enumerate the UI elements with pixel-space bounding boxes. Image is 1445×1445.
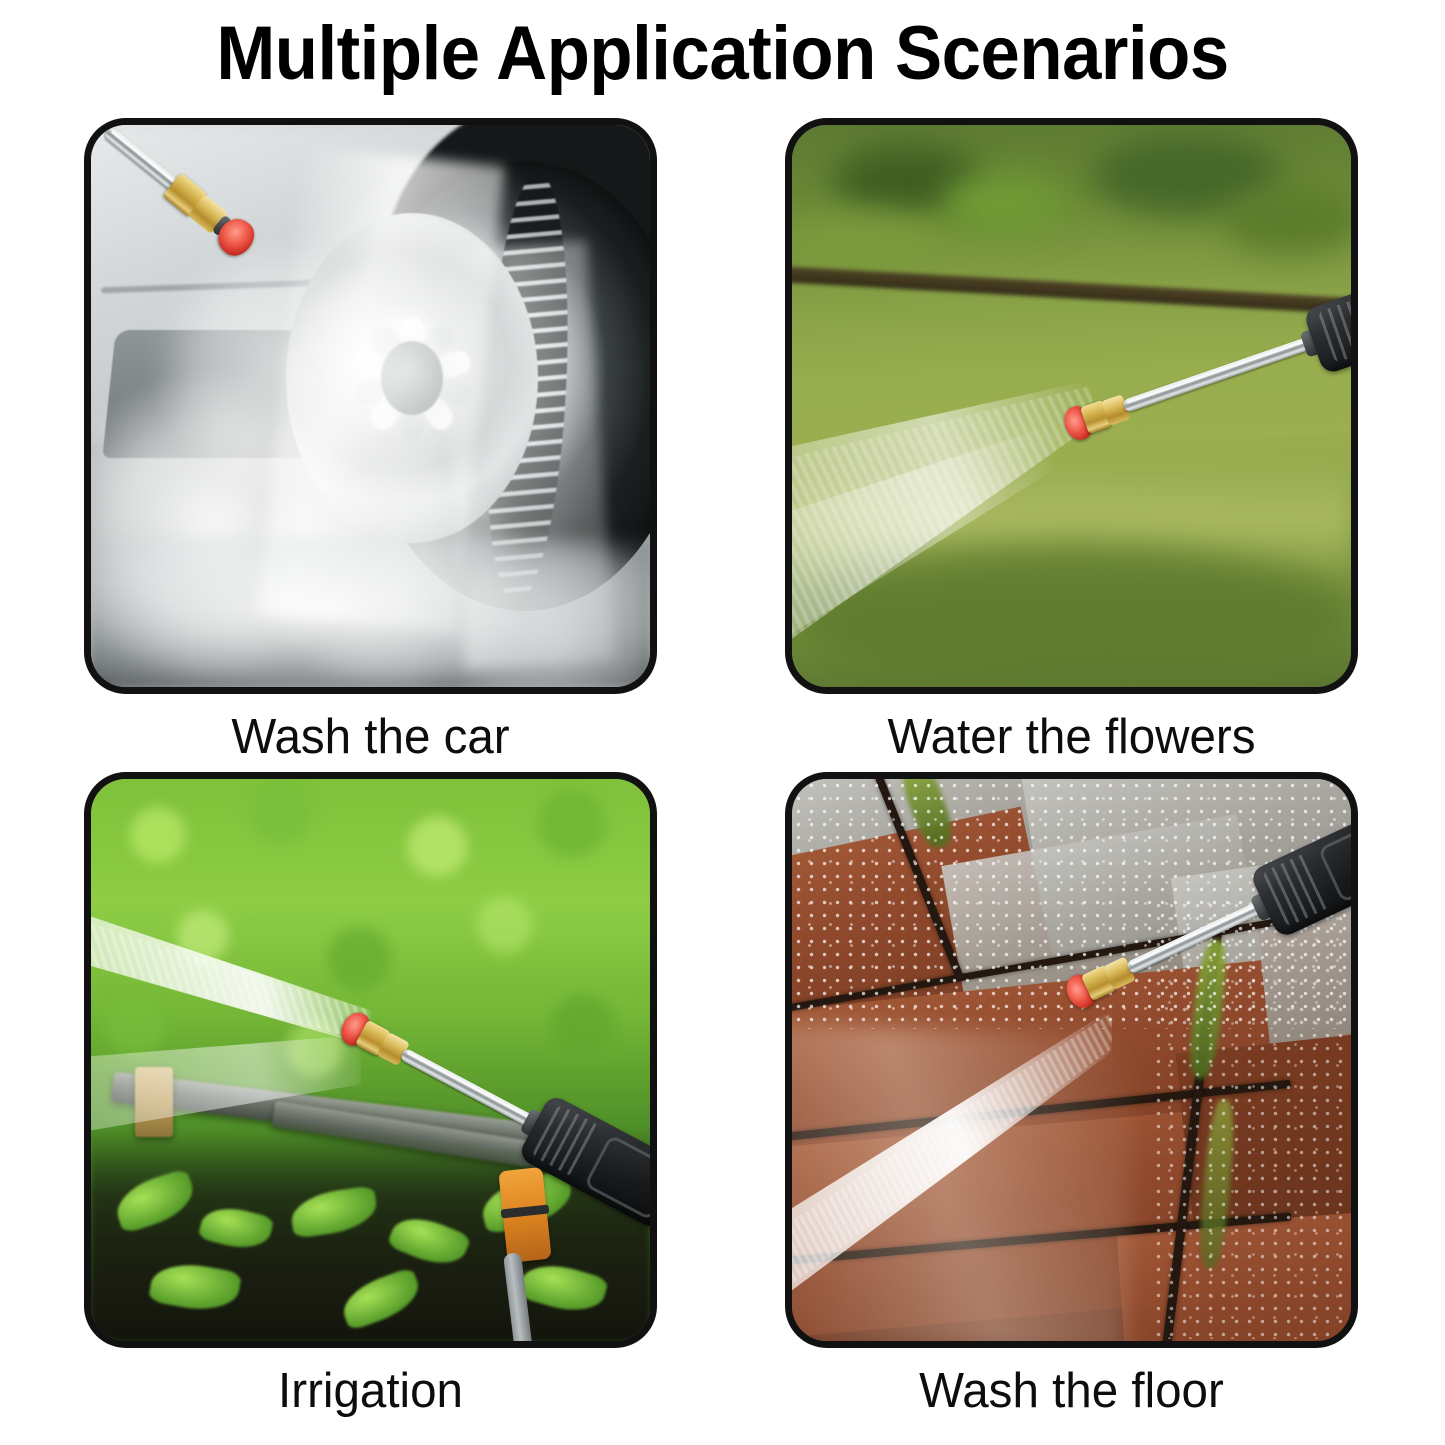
- scenario-caption-wash-the-car: Wash the car: [93, 700, 649, 774]
- floor-washing-scene: [792, 779, 1351, 1341]
- scenario-card-wash-the-floor[interactable]: Wash the floor: [785, 772, 1358, 1428]
- flower-watering-scene: [792, 125, 1351, 687]
- ground-splash: [91, 537, 650, 687]
- foliage-blotch: [942, 175, 1062, 235]
- scenario-card-irrigation[interactable]: Irrigation: [84, 772, 657, 1428]
- scenario-grid: Wash the car: [0, 0, 1445, 1445]
- scenario-image-irrigation: [84, 772, 657, 1348]
- scenario-caption-water-the-flowers: Water the flowers: [794, 700, 1350, 774]
- scenario-image-wash-the-car: [84, 118, 657, 694]
- water-sparkle: [1152, 899, 1351, 1339]
- foliage-blotch: [1222, 185, 1351, 255]
- scenario-caption-wash-the-floor: Wash the floor: [794, 1354, 1350, 1428]
- scenario-card-wash-the-car[interactable]: Wash the car: [84, 118, 657, 774]
- scenario-caption-irrigation: Irrigation: [93, 1354, 649, 1428]
- car-wash-scene: [91, 125, 650, 687]
- irrigation-scene: [91, 779, 650, 1341]
- scenario-image-water-the-flowers: [785, 118, 1358, 694]
- scenario-image-wash-the-floor: [785, 772, 1358, 1348]
- scenario-card-water-the-flowers[interactable]: Water the flowers: [785, 118, 1358, 774]
